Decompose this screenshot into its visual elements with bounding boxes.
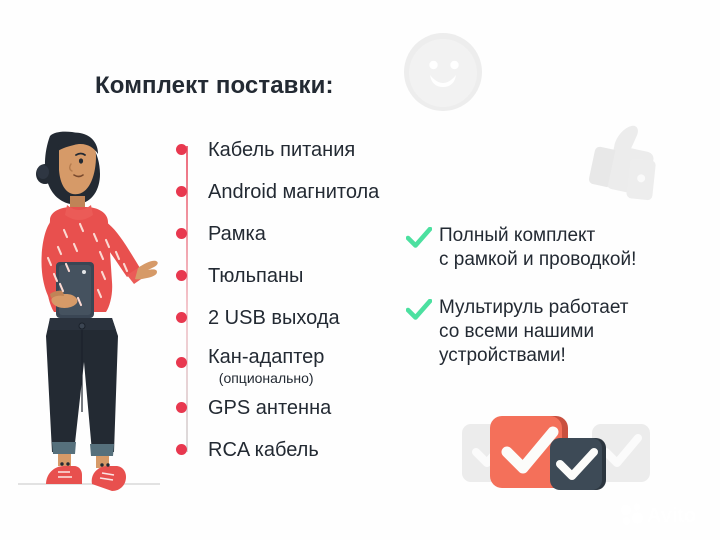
bullet-dot-icon: [176, 144, 187, 155]
bullet-dot-icon: [176, 186, 187, 197]
callout-text: Полный комплект с рамкой и проводкой!: [439, 224, 636, 272]
list-item: Кабель питания: [176, 138, 355, 162]
callout-line: устройствами!: [439, 345, 566, 366]
smiley-face-icon: [404, 33, 482, 111]
bullet-dot-icon: [176, 402, 187, 413]
list-item-label: Тюльпаны: [208, 265, 303, 287]
watermark-text: Avito: [647, 505, 696, 527]
list-item-label: Кабель питания: [208, 139, 355, 161]
list-item-label: Кан-адаптер: [208, 346, 324, 368]
list-item-label: RCA кабель: [208, 439, 319, 461]
list-item-label: 2 USB выхода: [208, 307, 340, 329]
bullet-dot-icon: [176, 444, 187, 455]
callout-line: Полный комплект: [439, 225, 595, 246]
callout-line: с рамкой и проводкой!: [439, 249, 636, 270]
thumbs-up-icon: [578, 112, 670, 204]
callout-text: Мультируль работает со всеми нашими устр…: [439, 296, 629, 368]
bullet-dot-icon: [176, 357, 187, 368]
callout-item: Полный комплект с рамкой и проводкой!: [406, 224, 636, 272]
list-item: 2 USB выхода: [176, 306, 340, 330]
list-item-label: GPS антенна: [208, 397, 331, 419]
bullet-dot-icon: [176, 228, 187, 239]
callout-item: Мультируль работает со всеми нашими устр…: [406, 296, 629, 368]
callout-line: Мультируль работает: [439, 297, 629, 318]
list-item-sublabel: (опционально): [208, 370, 324, 387]
woman-pointing-illustration: [14, 112, 174, 507]
list-item: Рамка: [176, 222, 266, 246]
list-item-label: Рамка: [208, 223, 266, 245]
callout-line: со всеми нашими: [439, 321, 594, 342]
list-item: RCA кабель: [176, 438, 319, 462]
poster-canvas: Комплект поставки:: [0, 0, 720, 540]
checkbox-cards-illustration: [452, 406, 652, 496]
page-title: Комплект поставки:: [95, 72, 334, 100]
green-check-icon: [406, 299, 432, 326]
list-item: Тюльпаны: [176, 264, 303, 288]
package-contents-list: Кабель питания Android магнитола Рамка Т…: [176, 128, 416, 468]
list-item: GPS антенна: [176, 396, 331, 420]
avito-watermark: Avito: [618, 500, 712, 528]
green-check-icon: [406, 227, 432, 254]
list-item: Android магнитола: [176, 180, 379, 204]
bullet-dot-icon: [176, 312, 187, 323]
list-item: Кан-адаптер (опционально): [176, 345, 324, 387]
bullet-dot-icon: [176, 270, 187, 281]
list-item-label: Android магнитола: [208, 181, 379, 203]
